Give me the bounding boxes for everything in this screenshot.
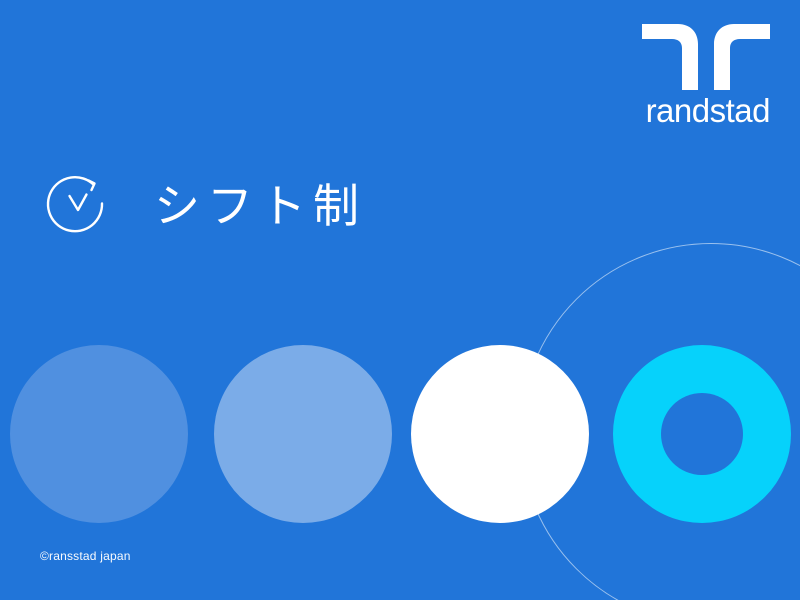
circle-soft-blue-2 <box>214 345 392 523</box>
rotating-clock-icon <box>44 172 112 240</box>
thin-outline-circle <box>520 243 800 600</box>
headline-title: シフト制 <box>154 183 366 229</box>
randstad-logo-mark <box>642 22 770 90</box>
headline-block: シフト制 <box>44 164 366 248</box>
slide-canvas: randstad シフト制 ©ransstad japan <box>0 0 800 600</box>
circle-soft-blue-1 <box>10 345 188 523</box>
footer-copyright: ©ransstad japan <box>40 550 131 562</box>
randstad-logo: randstad <box>642 22 770 127</box>
randstad-wordmark: randstad <box>642 94 770 127</box>
